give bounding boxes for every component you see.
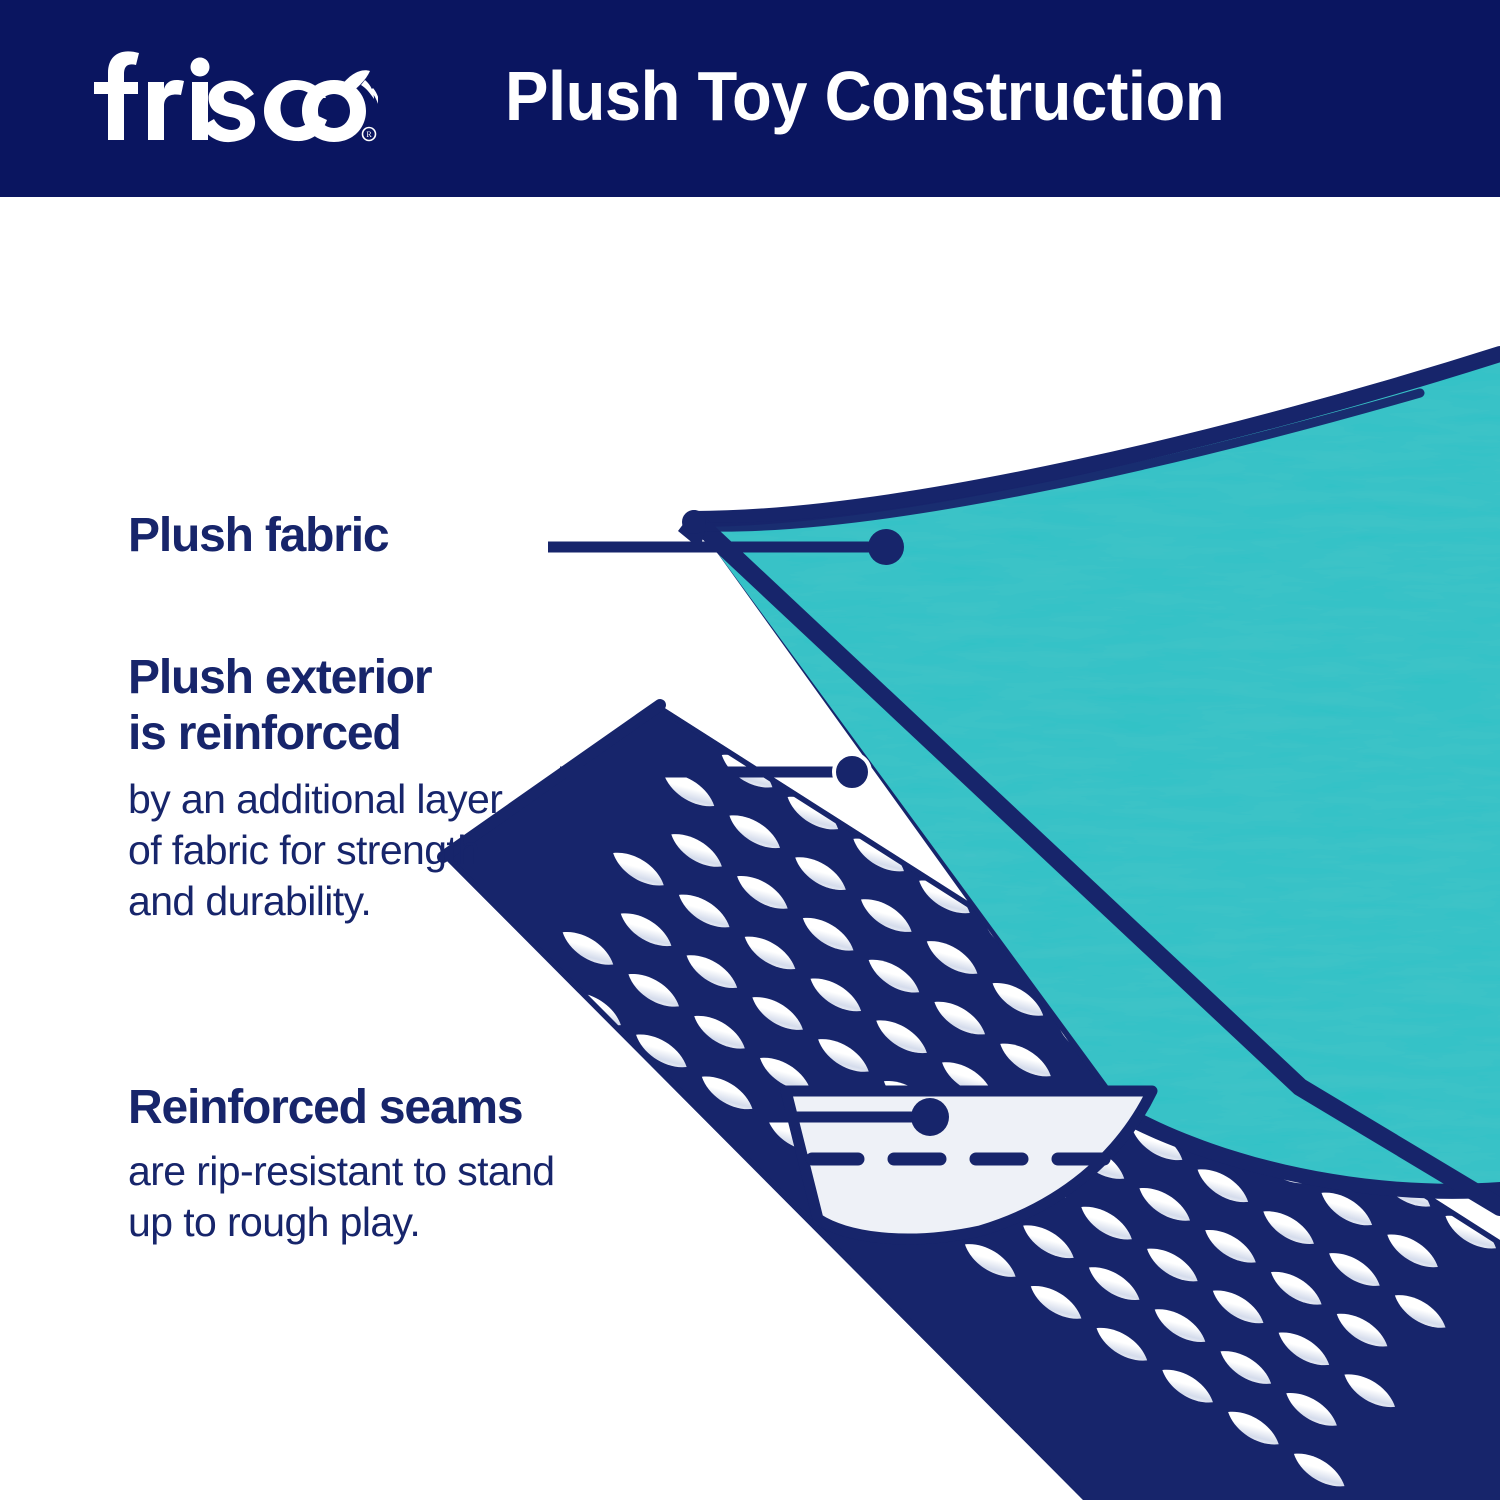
callout-body-line-3: and durability. — [128, 876, 502, 927]
callout-body-line-2: of fabric for strength — [128, 825, 502, 876]
svg-text:R: R — [366, 130, 372, 139]
callout-heading-line-2: is reinforced — [128, 706, 502, 762]
callout-heading-line-1: Plush exterior — [128, 650, 502, 706]
leader-dot-filled — [911, 1098, 949, 1136]
callout-reinforced-seams: Reinforced seams are rip-resistant to st… — [128, 1080, 555, 1248]
leader-dot-filled — [868, 529, 904, 565]
frisco-wordmark-logo: R — [78, 44, 378, 149]
callout-body-line-1: are rip-resistant to stand — [128, 1146, 555, 1197]
infographic-page: R Plush Toy Construction — [0, 0, 1500, 1500]
callout-heading: Plush fabric — [128, 508, 388, 564]
callout-body-line-2: up to rough play. — [128, 1197, 555, 1248]
page-title: Plush Toy Construction — [505, 48, 1224, 144]
callout-plush-exterior: Plush exterior is reinforced by an addit… — [128, 650, 502, 927]
header-bar: R Plush Toy Construction — [0, 0, 1500, 197]
callout-heading: Reinforced seams — [128, 1080, 555, 1136]
callout-body-line-1: by an additional layer — [128, 774, 502, 825]
callout-plush-fabric: Plush fabric — [128, 508, 388, 564]
leader-dot-ring — [834, 754, 870, 790]
frisco-logo: R — [78, 44, 378, 149]
